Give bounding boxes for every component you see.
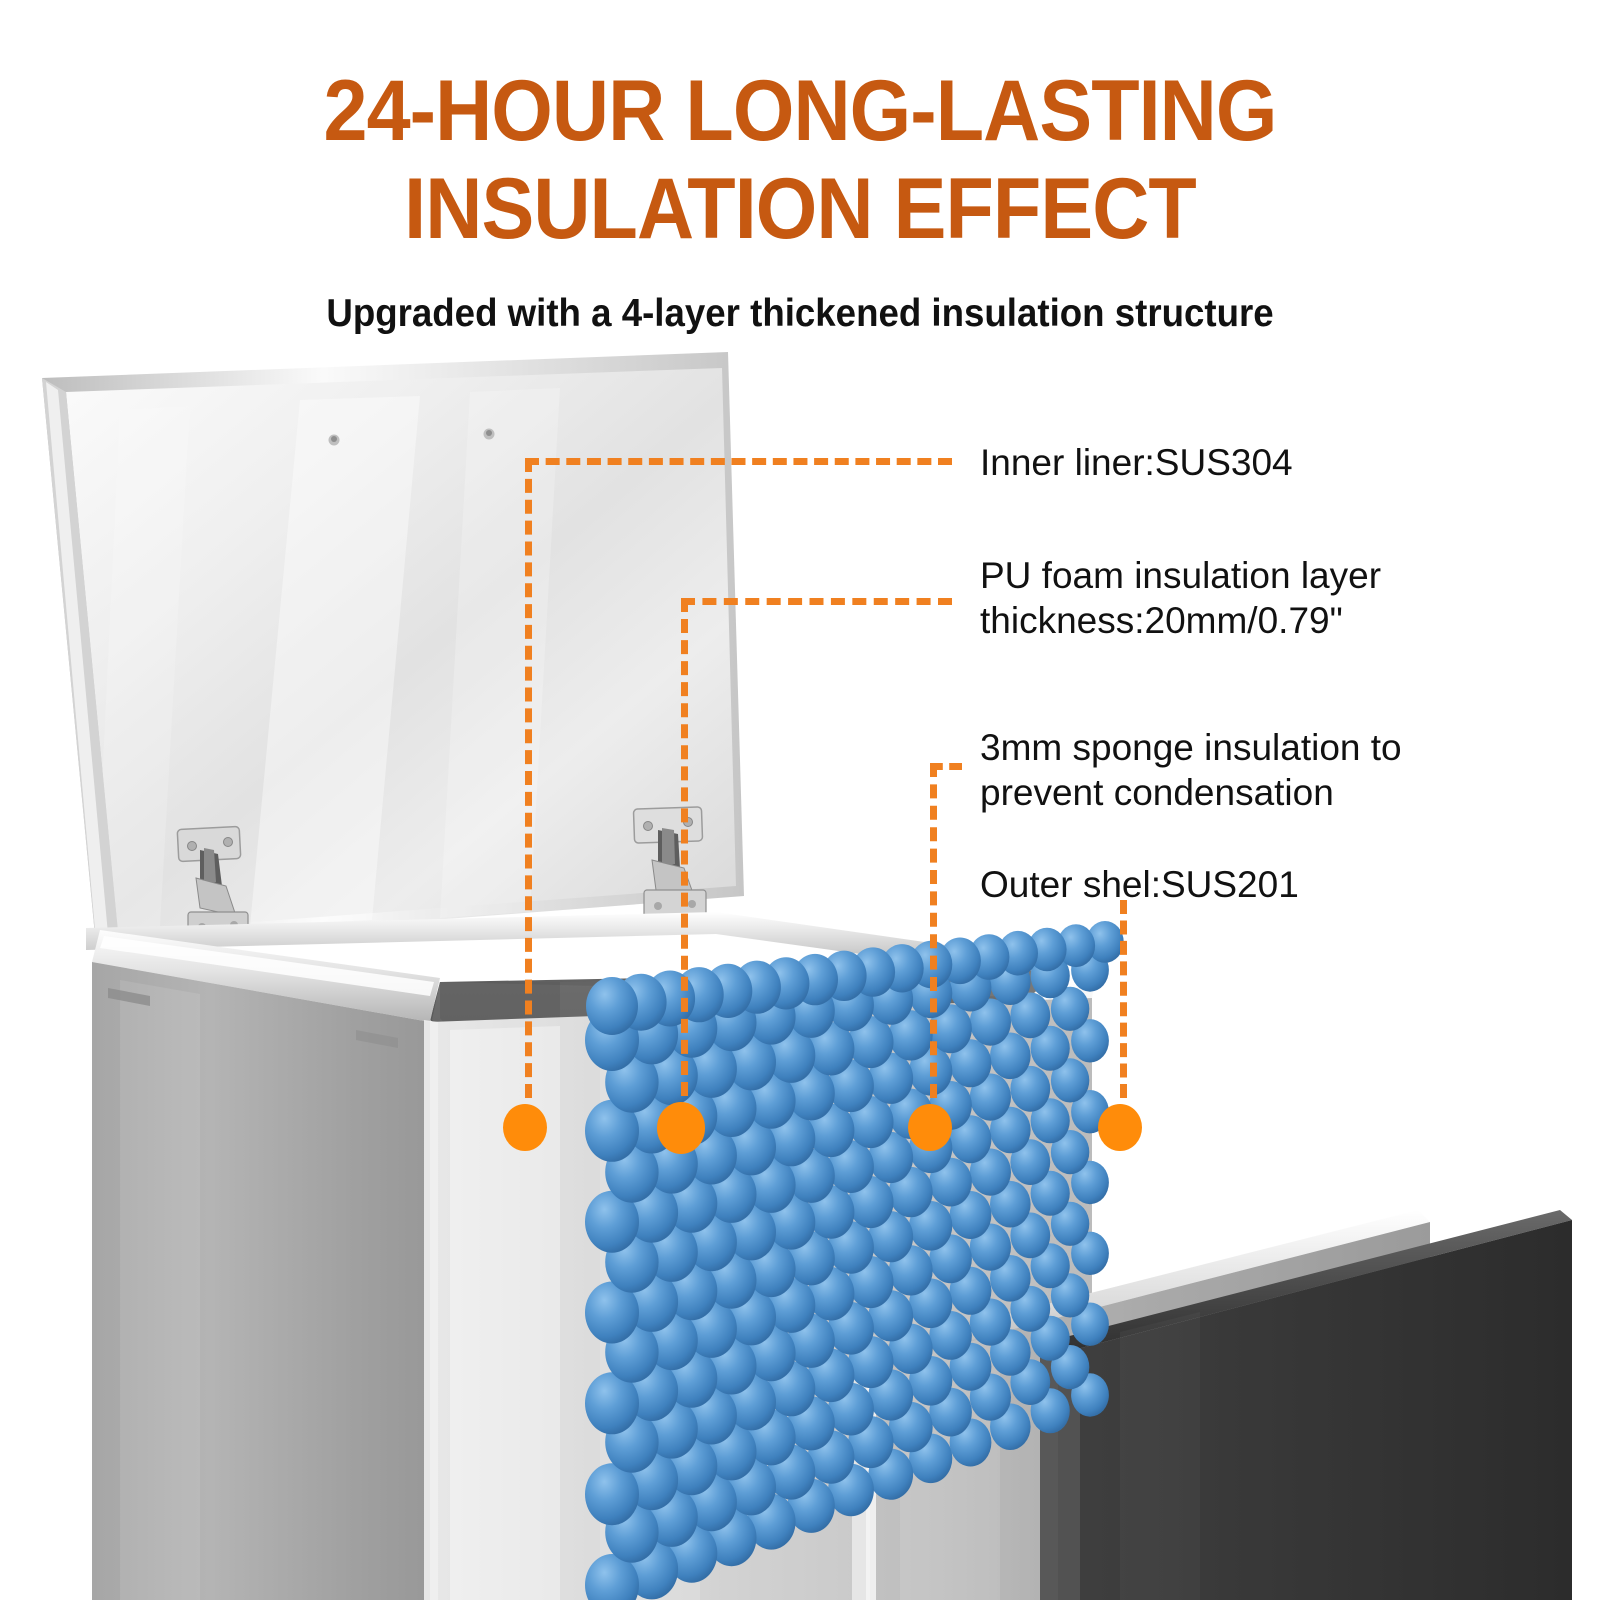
leader-line-horizontal-pu-foam-insulation	[681, 598, 952, 605]
product-illustration	[0, 330, 1600, 1600]
callout-line: PU foam insulation layer	[980, 553, 1381, 598]
callout-label-inner-liner: Inner liner:SUS304	[980, 440, 1293, 485]
leader-line-horizontal-inner-liner	[525, 458, 952, 465]
leader-line-vertical-outer-shell	[1120, 900, 1127, 1098]
callout-line: prevent condensation	[980, 770, 1402, 815]
leader-line-vertical-pu-foam-insulation	[681, 598, 688, 1096]
callout-line: Outer shel:SUS201	[980, 862, 1299, 907]
callout-dot-sponge-insulation	[908, 1104, 952, 1151]
title-line-2: INSULATION EFFECT	[64, 160, 1536, 258]
callout-line: Inner liner:SUS304	[980, 440, 1293, 485]
callout-line: thickness:20mm/0.79"	[980, 598, 1381, 643]
callout-dot-outer-shell	[1098, 1104, 1142, 1151]
infographic-canvas: 24-HOUR LONG-LASTING INSULATION EFFECT U…	[0, 0, 1600, 1600]
callout-line: 3mm sponge insulation to	[980, 725, 1402, 770]
callout-dot-pu-foam-insulation	[657, 1102, 705, 1154]
callout-dot-inner-liner	[503, 1104, 547, 1151]
leader-line-vertical-sponge-insulation	[930, 763, 937, 1098]
callout-label-outer-shell: Outer shel:SUS201	[980, 862, 1299, 907]
page-title: 24-HOUR LONG-LASTING INSULATION EFFECT	[0, 62, 1600, 258]
callout-label-pu-foam: PU foam insulation layer thickness:20mm/…	[980, 553, 1381, 643]
title-line-1: 24-HOUR LONG-LASTING	[64, 62, 1536, 160]
callout-label-sponge: 3mm sponge insulation to prevent condens…	[980, 725, 1402, 815]
open-lid-panel	[42, 352, 744, 946]
leader-line-vertical-inner-liner	[525, 458, 532, 1098]
